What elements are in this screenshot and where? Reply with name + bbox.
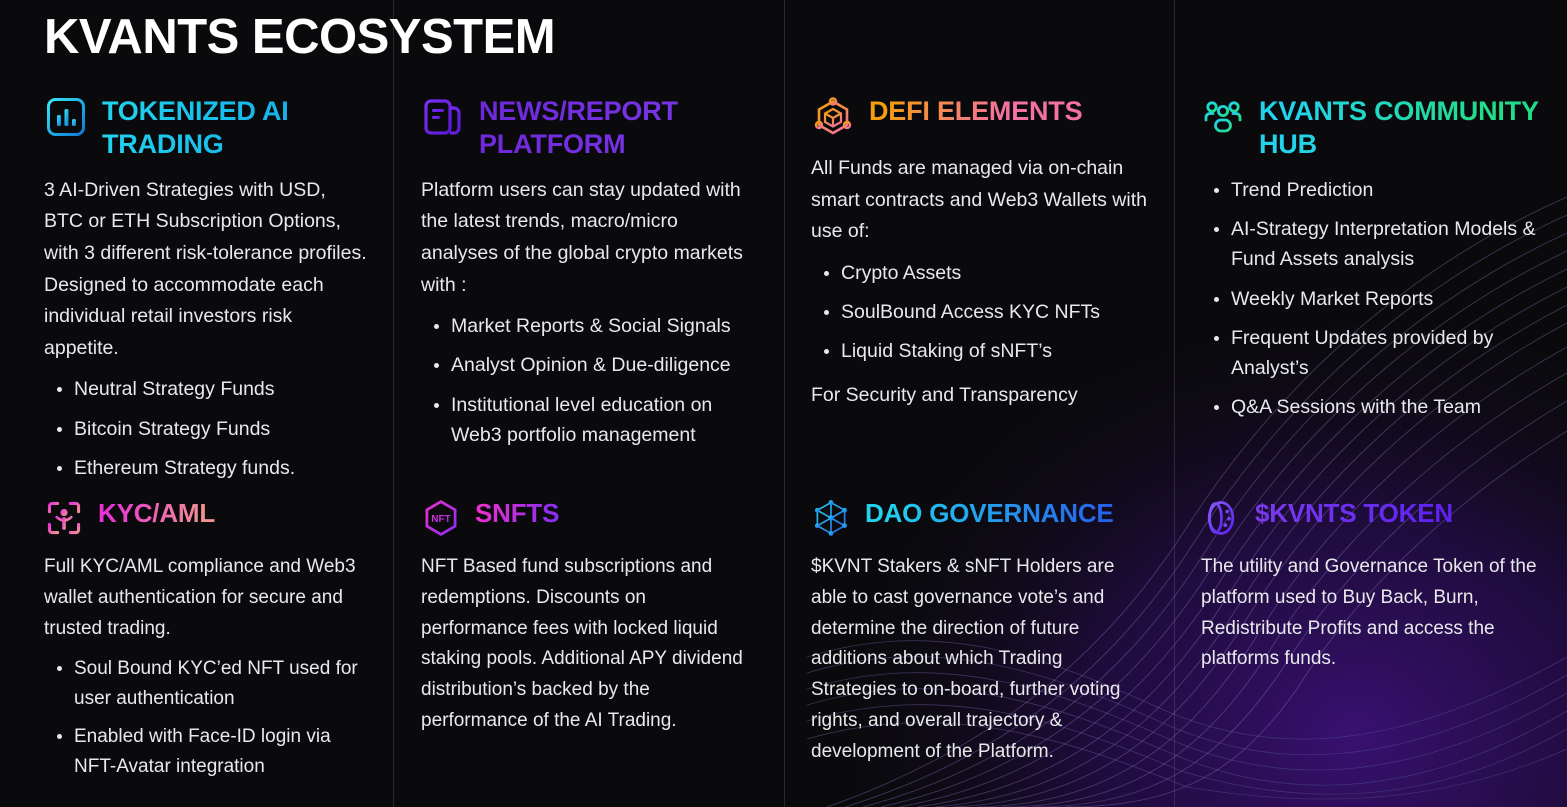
bar-chart-icon bbox=[44, 95, 88, 139]
card-title: NEWS/REPORT PLATFORM bbox=[479, 93, 757, 161]
card-header: DEFI ELEMENTS bbox=[811, 93, 1147, 139]
page-title: KVANTS ECOSYSTEM bbox=[0, 0, 1567, 65]
list-item: SoulBound Access KYC NFTs bbox=[841, 297, 1147, 327]
card-header: TOKENIZED AI TRADING bbox=[44, 93, 367, 161]
card-header: KVANTS COMMUNITY HUB bbox=[1201, 93, 1541, 161]
card-outro: For Security and Transparency bbox=[811, 380, 1147, 412]
card-intro: All Funds are managed via on-chain smart… bbox=[811, 153, 1147, 248]
card-body: 3 AI-Driven Strategies with USD, BTC or … bbox=[44, 175, 367, 483]
card-body: $KVNT Stakers & sNFT Holders are able to… bbox=[811, 552, 1147, 767]
card-intro: $KVNT Stakers & sNFT Holders are able to… bbox=[811, 552, 1147, 767]
list-item: Bitcoin Strategy Funds bbox=[74, 414, 367, 444]
card-news-report-platform: NEWS/REPORT PLATFORM Platform users can … bbox=[393, 93, 783, 492]
list-item: Enabled with Face-ID login via NFT-Avata… bbox=[74, 722, 367, 781]
people-group-icon bbox=[1201, 95, 1245, 139]
list-item: Ethereum Strategy funds. bbox=[74, 453, 367, 483]
card-bullets: Market Reports & Social Signals Analyst … bbox=[421, 311, 757, 450]
list-item: AI-Strategy Interpretation Models & Fund… bbox=[1231, 214, 1541, 274]
card-tokenized-ai-trading: TOKENIZED AI TRADING 3 AI-Driven Strateg… bbox=[0, 93, 393, 492]
card-title: $KVNTS TOKEN bbox=[1255, 496, 1453, 530]
card-intro: 3 AI-Driven Strategies with USD, BTC or … bbox=[44, 175, 367, 364]
document-report-icon bbox=[421, 95, 465, 139]
card-title: KVANTS COMMUNITY HUB bbox=[1259, 93, 1541, 161]
card-header: NEWS/REPORT PLATFORM bbox=[421, 93, 757, 161]
card-title: SNFTS bbox=[475, 496, 559, 530]
card-kvants-community-hub: KVANTS COMMUNITY HUB Trend Prediction AI… bbox=[1173, 93, 1567, 492]
card-snfts: NFT SNFTS NFT Based fund subscriptions a… bbox=[393, 496, 783, 790]
list-item: Soul Bound KYC’ed NFT used for user auth… bbox=[74, 654, 367, 713]
network-nodes-icon bbox=[811, 498, 851, 538]
card-bullets: Soul Bound KYC’ed NFT used for user auth… bbox=[44, 654, 367, 781]
list-item: Institutional level education on Web3 po… bbox=[451, 390, 757, 450]
kvants-ecosystem-page: KVANTS ECOSYSTEM TOKENIZED AI TRAD bbox=[0, 0, 1567, 807]
card-body: Platform users can stay updated with the… bbox=[421, 175, 757, 450]
card-title: DAO GOVERNANCE bbox=[865, 496, 1114, 530]
nft-hexagon-icon: NFT bbox=[421, 498, 461, 538]
card-header: $KVNTS TOKEN bbox=[1201, 496, 1541, 538]
card-body: Full KYC/AML compliance and Web3 wallet … bbox=[44, 552, 367, 781]
card-intro: Platform users can stay updated with the… bbox=[421, 175, 757, 301]
card-bullets: Neutral Strategy Funds Bitcoin Strategy … bbox=[44, 374, 367, 483]
card-intro: The utility and Governance Token of the … bbox=[1201, 552, 1541, 675]
list-item: Analyst Opinion & Due-diligence bbox=[451, 350, 757, 380]
face-scan-icon bbox=[44, 498, 84, 538]
token-coin-icon bbox=[1201, 498, 1241, 538]
card-bullets: Trend Prediction AI-Strategy Interpretat… bbox=[1201, 175, 1541, 423]
card-title: KYC/AML bbox=[98, 496, 215, 530]
list-item: Market Reports & Social Signals bbox=[451, 311, 757, 341]
card-body: The utility and Governance Token of the … bbox=[1201, 552, 1541, 675]
list-item: Q&A Sessions with the Team bbox=[1231, 392, 1541, 422]
card-body: All Funds are managed via on-chain smart… bbox=[811, 153, 1147, 412]
list-item: Trend Prediction bbox=[1231, 175, 1541, 205]
list-item: Liquid Staking of sNFT’s bbox=[841, 336, 1147, 366]
card-header: DAO GOVERNANCE bbox=[811, 496, 1147, 538]
card-bullets: Crypto Assets SoulBound Access KYC NFTs … bbox=[811, 258, 1147, 367]
card-intro: NFT Based fund subscriptions and redempt… bbox=[421, 552, 757, 737]
svg-text:NFT: NFT bbox=[431, 514, 450, 525]
card-header: NFT SNFTS bbox=[421, 496, 757, 538]
card-dao-governance: DAO GOVERNANCE $KVNT Stakers & sNFT Hold… bbox=[783, 496, 1173, 790]
list-item: Frequent Updates provided by Analyst’s bbox=[1231, 323, 1541, 383]
card-title: TOKENIZED AI TRADING bbox=[102, 93, 367, 161]
card-header: KYC/AML bbox=[44, 496, 367, 538]
card-body: NFT Based fund subscriptions and redempt… bbox=[421, 552, 757, 737]
card-body: Trend Prediction AI-Strategy Interpretat… bbox=[1201, 175, 1541, 423]
list-item: Crypto Assets bbox=[841, 258, 1147, 288]
card-defi-elements: DEFI ELEMENTS All Funds are managed via … bbox=[783, 93, 1173, 492]
card-kyc-aml: KYC/AML Full KYC/AML compliance and Web3… bbox=[0, 496, 393, 790]
card-title: DEFI ELEMENTS bbox=[869, 93, 1082, 128]
list-item: Weekly Market Reports bbox=[1231, 284, 1541, 314]
ecosystem-card-grid-row-2: KYC/AML Full KYC/AML compliance and Web3… bbox=[0, 496, 1567, 790]
ecosystem-card-grid-row-1: TOKENIZED AI TRADING 3 AI-Driven Strateg… bbox=[0, 93, 1567, 492]
card-intro: Full KYC/AML compliance and Web3 wallet … bbox=[44, 552, 367, 644]
list-item: Neutral Strategy Funds bbox=[74, 374, 367, 404]
card-kvnts-token: $KVNTS TOKEN The utility and Governance … bbox=[1173, 496, 1567, 790]
hexagon-cube-icon bbox=[811, 95, 855, 139]
